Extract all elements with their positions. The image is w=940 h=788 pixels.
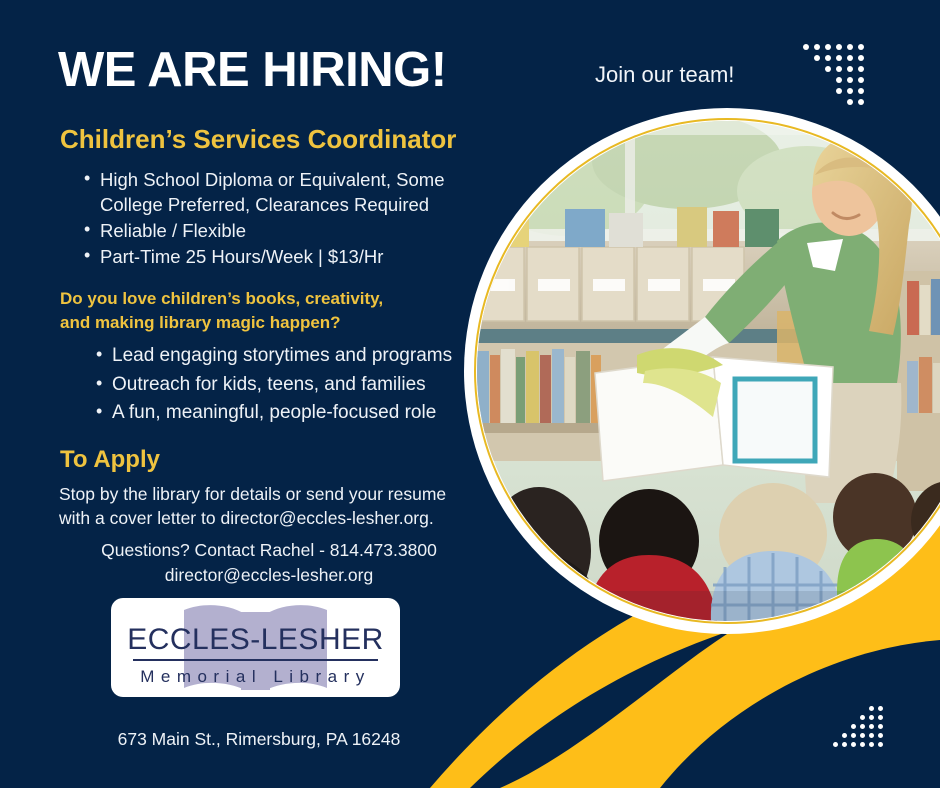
hiring-flyer: WE ARE HIRING! Children’s Services Coord… xyxy=(0,0,940,788)
svg-text:Memorial Library: Memorial Library xyxy=(140,667,371,686)
page-title: WE ARE HIRING! xyxy=(58,46,447,95)
list-item: High School Diploma or Equivalent, Some … xyxy=(100,167,500,217)
requirements-list: High School Diploma or Equivalent, Some … xyxy=(74,167,500,270)
dot-grid-top-right-icon xyxy=(803,44,864,105)
tagline-line-1: Do you love children’s books, creativity… xyxy=(60,289,383,308)
list-item: Outreach for kids, teens, and families xyxy=(112,371,512,399)
tagline-line-2: and making library magic happen? xyxy=(60,313,341,332)
tagline: Do you love children’s books, creativity… xyxy=(60,287,460,335)
to-apply-heading: To Apply xyxy=(60,446,160,474)
library-address: 673 Main St., Rimersburg, PA 16248 xyxy=(59,729,459,750)
apply-instructions: Stop by the library for details or send … xyxy=(59,482,479,530)
contact-phone-line: Questions? Contact Rachel - 814.473.3800 xyxy=(101,540,437,560)
contact-email-line: director@eccles-lesher.org xyxy=(165,565,373,585)
flyer-text-column: WE ARE HIRING! Children’s Services Coord… xyxy=(0,0,500,788)
svg-text:ECCLES-LESHER: ECCLES-LESHER xyxy=(127,623,384,656)
duties-list: Lead engaging storytimes and programs Ou… xyxy=(86,342,512,428)
join-our-team-text: Join our team! xyxy=(595,62,734,88)
list-item: Lead engaging storytimes and programs xyxy=(112,342,512,370)
dot-grid-bottom-right-icon xyxy=(833,706,883,747)
job-title: Children’s Services Coordinator xyxy=(60,124,456,155)
library-logo: ECCLES-LESHER Memorial Library xyxy=(111,598,400,697)
list-item: Reliable / Flexible xyxy=(100,218,500,243)
questions-contact: Questions? Contact Rachel - 814.473.3800… xyxy=(59,538,479,588)
list-item: A fun, meaningful, people-focused role xyxy=(112,399,512,427)
list-item: Part-Time 25 Hours/Week | $13/Hr xyxy=(100,244,500,269)
